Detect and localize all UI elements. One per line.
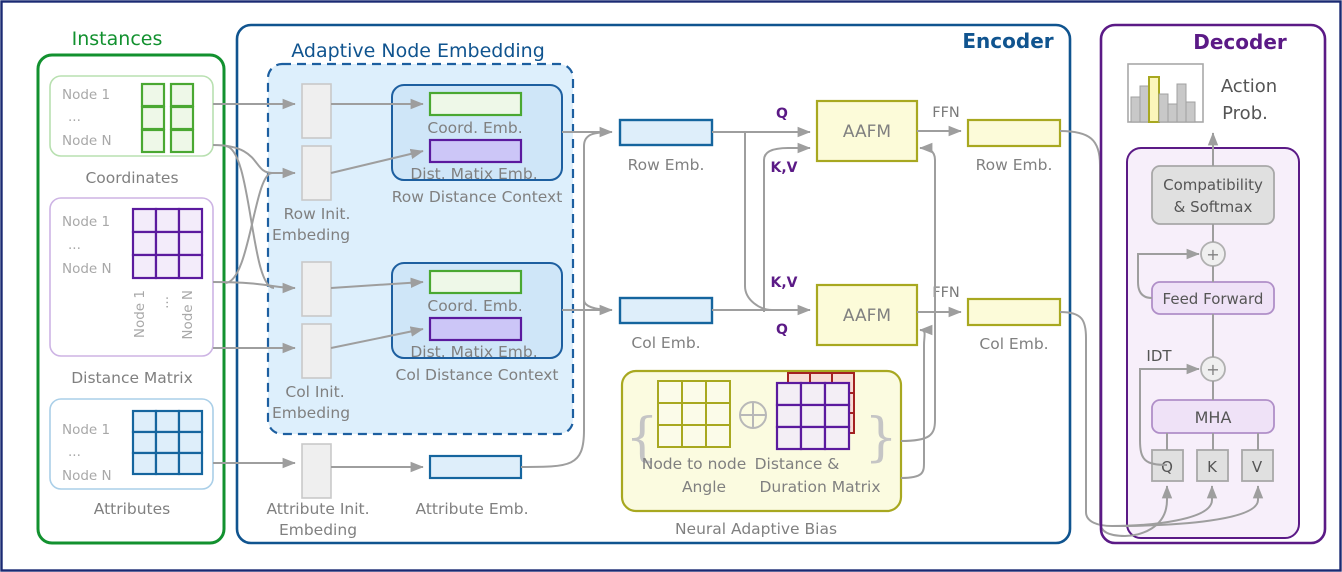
row-coord-emb-label: Coord. Emb. — [427, 119, 522, 137]
dist-col-label-2: Node N — [180, 290, 196, 340]
oplus-icon — [740, 402, 766, 428]
ffn-label-col: FFN — [932, 285, 960, 301]
aafm-row-label: AAFM — [843, 122, 891, 142]
col-init-embedding-label-l2: Embeding — [272, 404, 350, 422]
attributes-caption: Attributes — [94, 500, 171, 518]
dist-col-label-0: Node 1 — [132, 290, 148, 338]
decoder-k-label: K — [1207, 458, 1218, 476]
col-init-embedding-label-l1: Col Init. — [285, 383, 344, 401]
node-to-node-angle-label-l1: Node to node — [642, 455, 747, 473]
attribute-emb-box — [430, 456, 521, 478]
action-prob-histogram-icon — [1128, 64, 1203, 122]
row-init-embedding-block-b — [302, 146, 331, 200]
coordinates-row-label-0: Node 1 — [62, 87, 110, 103]
node-to-node-angle-grid — [658, 381, 730, 447]
attribute-emb-label: Attribute Emb. — [415, 500, 528, 518]
decoder-q-label: Q — [1161, 458, 1173, 476]
dist-row-label-2: Node N — [62, 261, 112, 277]
adder-1-label: + — [1206, 245, 1219, 264]
adder-1: + — [1201, 242, 1225, 266]
col-dist-emb-label: Dist. Matix Emb. — [410, 343, 537, 361]
distance-duration-label-l2: Duration Matrix — [759, 478, 880, 496]
kv-label-row: K,V — [770, 160, 797, 176]
dist-col-label-1: ... — [156, 296, 172, 309]
attr-row-label-2: Node N — [62, 468, 112, 484]
row-init-embedding-label-l2: Embeding — [272, 226, 350, 244]
dist-row-label-1: ... — [68, 237, 81, 253]
attribute-init-embedding-block — [302, 444, 331, 498]
q-label-row: Q — [776, 106, 788, 122]
row-dist-emb-box — [430, 140, 521, 162]
ffn-label-row: FFN — [932, 105, 960, 121]
compatibility-softmax-label-l2: & Softmax — [1174, 198, 1253, 216]
row-emb-output-box — [968, 120, 1060, 146]
action-prob-label-l2: Prob. — [1222, 103, 1268, 124]
distance-matrix-caption: Distance Matrix — [71, 369, 193, 387]
attributes-grid — [133, 411, 202, 474]
attr-row-label-0: Node 1 — [62, 422, 110, 438]
architecture-diagram-svg: Instances Node 1 ... Node N Coordinates … — [0, 0, 1342, 572]
coordinates-row-label-1: ... — [68, 109, 81, 125]
row-emb-output-label: Row Emb. — [976, 156, 1053, 174]
col-coord-emb-box — [430, 271, 521, 293]
row-init-embedding-block-a — [302, 84, 331, 138]
neural-adaptive-bias-caption: Neural Adaptive Bias — [675, 520, 837, 538]
coordinates-caption: Coordinates — [85, 169, 178, 187]
bias-brace-right: } — [864, 408, 897, 468]
col-emb-output-label: Col Emb. — [979, 335, 1048, 353]
row-init-embedding-label-l1: Row Init. — [284, 205, 351, 223]
distance-matrix-grid — [133, 209, 202, 278]
feed-forward-label: Feed Forward — [1163, 290, 1264, 308]
instances-title: Instances — [72, 28, 163, 50]
compatibility-softmax-label-l1: Compatibility — [1163, 176, 1263, 194]
q-label-col: Q — [776, 322, 788, 338]
col-init-embedding-block-a — [302, 262, 331, 316]
col-emb-input-label: Col Emb. — [631, 334, 700, 352]
idt-label: IDT — [1146, 347, 1172, 365]
decoder-title: Decoder — [1193, 30, 1287, 54]
coordinates-row-label-2: Node N — [62, 133, 112, 149]
encoder-title: Encoder — [962, 29, 1053, 53]
col-dist-emb-box — [430, 318, 521, 340]
adder-2: + — [1201, 357, 1225, 381]
diagram-root: Instances Node 1 ... Node N Coordinates … — [0, 0, 1342, 572]
distance-duration-matrix-grid — [777, 383, 849, 449]
col-emb-output-box — [968, 299, 1060, 325]
attribute-init-embedding-label-l2: Embeding — [279, 521, 357, 539]
adder-2-label: + — [1206, 360, 1219, 379]
col-coord-emb-label: Coord. Emb. — [427, 297, 522, 315]
decoder-v-label: V — [1252, 458, 1263, 476]
mha-label: MHA — [1195, 408, 1232, 427]
col-emb-input-box — [620, 298, 712, 323]
distance-duration-label-l1: Distance & — [755, 455, 840, 473]
attr-row-label-1: ... — [68, 444, 81, 460]
dist-row-label-0: Node 1 — [62, 214, 110, 230]
kv-label-col: K,V — [770, 275, 797, 291]
aafm-col-label: AAFM — [843, 306, 891, 326]
row-emb-input-box — [620, 120, 712, 145]
node-to-node-angle-label-l2: Angle — [682, 478, 726, 496]
action-prob-label-l1: Action — [1221, 76, 1277, 97]
row-distance-context-caption: Row Distance Context — [392, 188, 563, 206]
col-distance-context-caption: Col Distance Context — [396, 366, 559, 384]
col-init-embedding-block-b — [302, 324, 331, 378]
row-dist-emb-label: Dist. Matix Emb. — [410, 165, 537, 183]
adaptive-node-embedding-title: Adaptive Node Embedding — [291, 40, 545, 62]
row-coord-emb-box — [430, 93, 521, 115]
attribute-init-embedding-label-l1: Attribute Init. — [266, 500, 369, 518]
row-emb-input-label: Row Emb. — [628, 156, 705, 174]
